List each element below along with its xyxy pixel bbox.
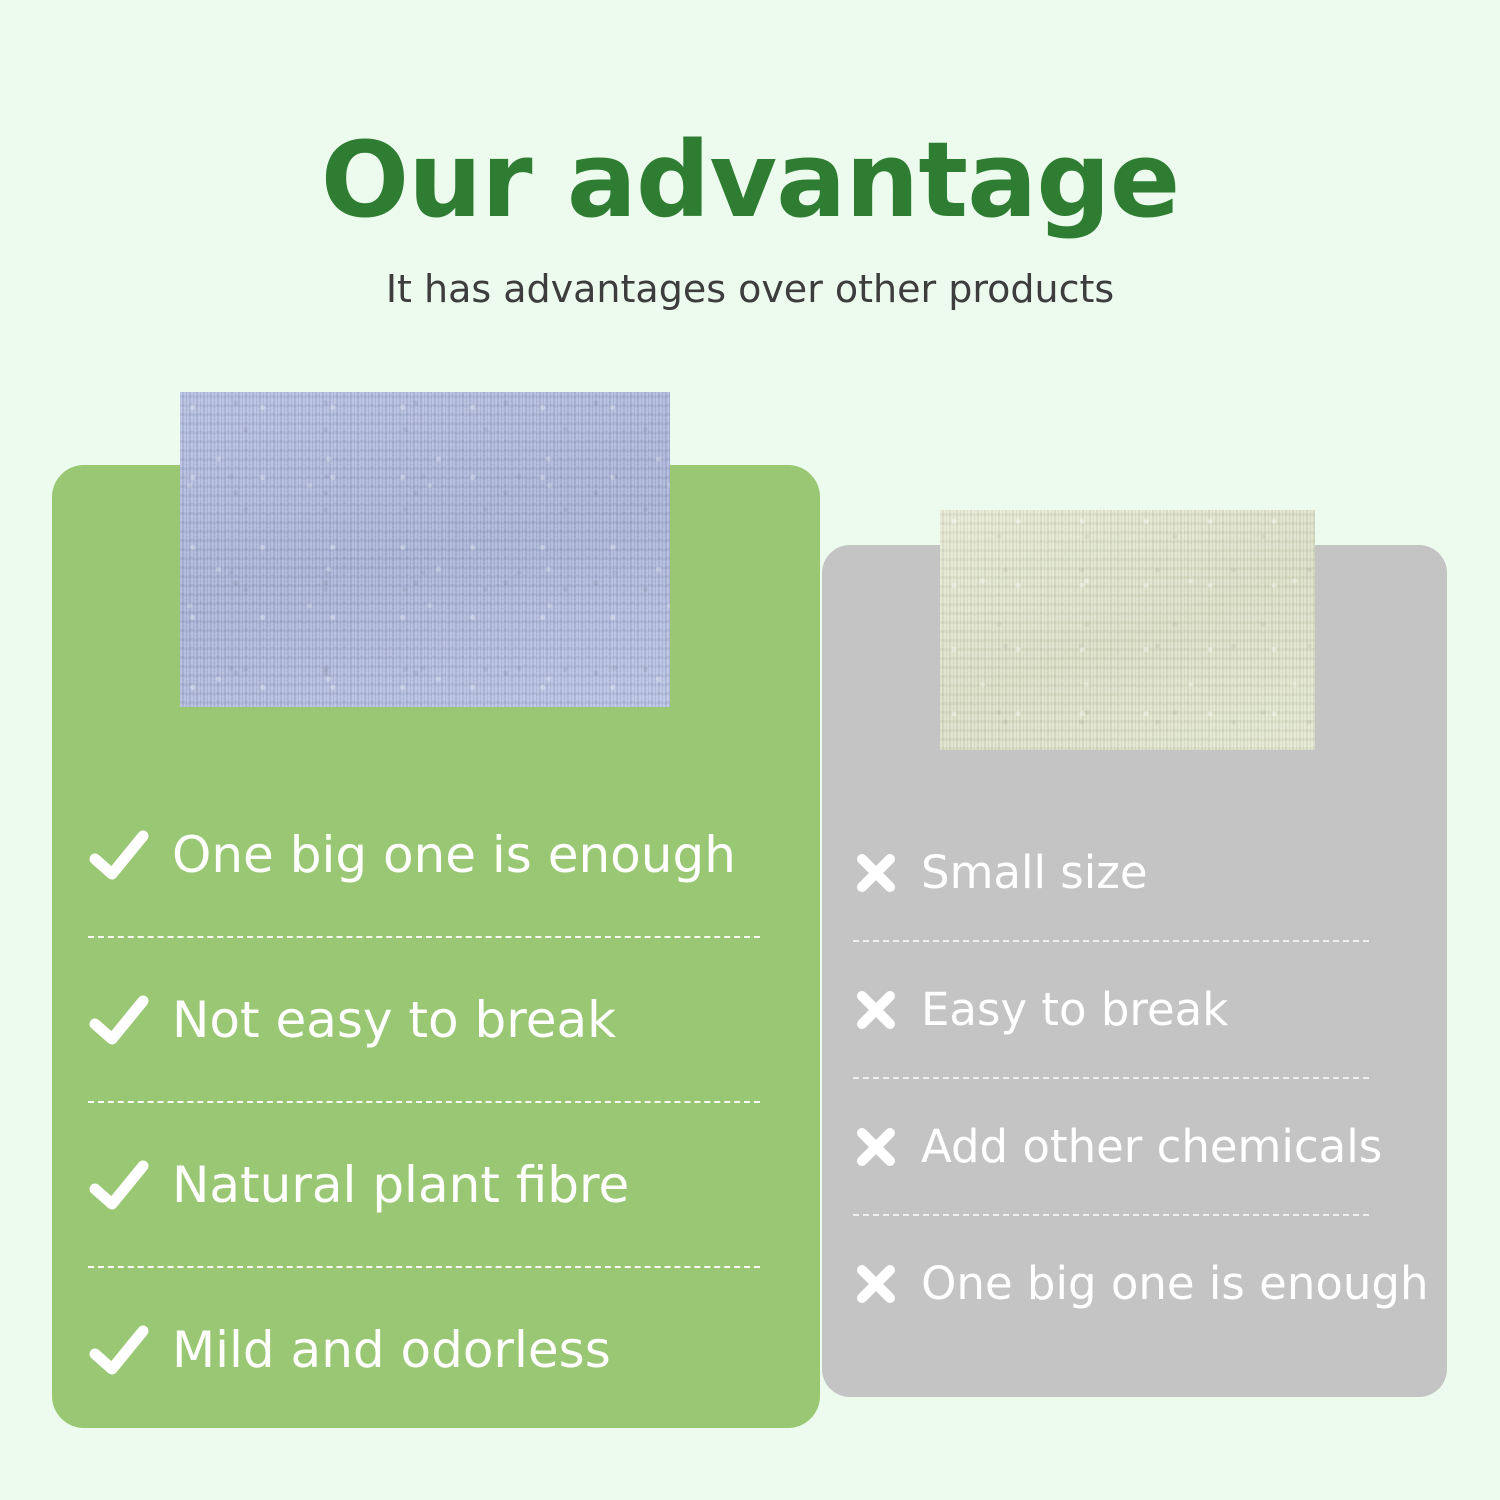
- list-item-label: Easy to break: [921, 987, 1228, 1032]
- list-item[interactable]: Add other chemicals: [853, 1079, 1453, 1214]
- list-item-label: Small size: [921, 850, 1148, 895]
- list-item-label: One big one is enough: [172, 830, 736, 880]
- check-icon: [88, 1322, 150, 1378]
- list-item[interactable]: Not easy to break: [88, 938, 788, 1101]
- page-title: Our advantage: [0, 126, 1500, 235]
- cross-icon: [853, 1125, 899, 1169]
- page-subtitle: It has advantages over other products: [0, 267, 1500, 313]
- blue-cloth-swatch: [180, 392, 670, 707]
- list-item[interactable]: Natural plant fibre: [88, 1103, 788, 1266]
- list-item[interactable]: Easy to break: [853, 942, 1453, 1077]
- list-item[interactable]: Small size: [853, 805, 1453, 940]
- disadvantage-list: Small size Easy to break Add other chemi…: [853, 805, 1453, 1351]
- list-item[interactable]: Mild and odorless: [88, 1268, 788, 1431]
- list-item[interactable]: One big one is enough: [853, 1216, 1453, 1351]
- list-item-label: Mild and odorless: [172, 1325, 611, 1375]
- list-item-label: Natural plant fibre: [172, 1160, 629, 1210]
- advantage-list: One big one is enough Not easy to break …: [88, 773, 788, 1431]
- cross-icon: [853, 988, 899, 1032]
- advantage-infographic: Our advantage It has advantages over oth…: [0, 0, 1500, 1500]
- list-item-label: One big one is enough: [921, 1261, 1429, 1306]
- cross-icon: [853, 1262, 899, 1306]
- check-icon: [88, 1157, 150, 1213]
- check-icon: [88, 992, 150, 1048]
- check-icon: [88, 827, 150, 883]
- list-item[interactable]: One big one is enough: [88, 773, 788, 936]
- list-item-label: Add other chemicals: [921, 1124, 1382, 1169]
- list-item-label: Not easy to break: [172, 995, 616, 1045]
- cross-icon: [853, 851, 899, 895]
- green-cloth-swatch: [940, 510, 1315, 750]
